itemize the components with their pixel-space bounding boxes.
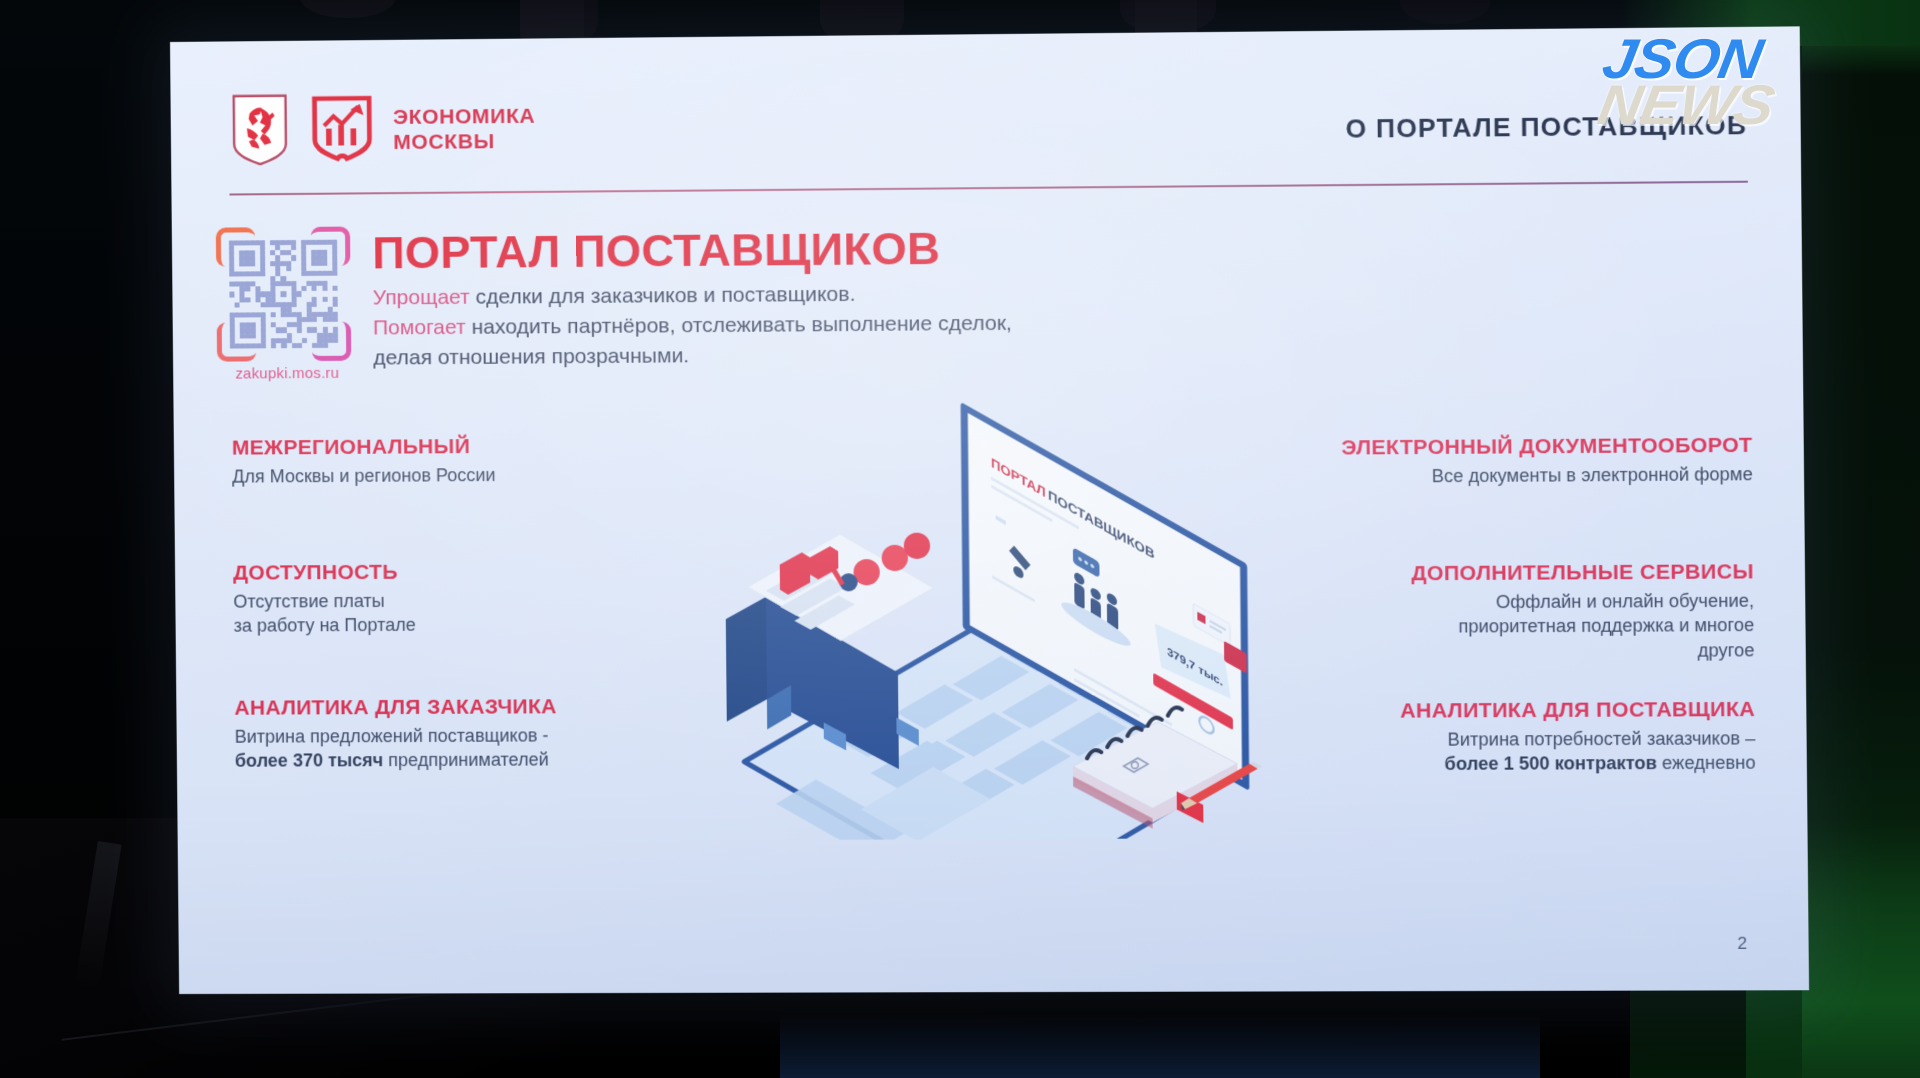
moscow-coat-of-arms-icon [229, 93, 292, 172]
feature-title: ДОПОЛНИТЕЛЬНЫЕ СЕРВИСЫ [1274, 560, 1754, 587]
hero-block: ПОРТАЛ ПОСТАВЩИКОВ Упрощает сделки для з… [372, 224, 1160, 373]
feature-title: АНАЛИТИКА ДЛЯ ПОСТАВЩИКА [1275, 698, 1755, 725]
feature-title: АНАЛИТИКА ДЛЯ ЗАКАЗЧИКА [234, 695, 666, 721]
qr-modules [229, 240, 338, 349]
photo-scene: ЭКОНОМИКА МОСКВЫ О ПОРТАЛЕ ПОСТАВЩИКОВ z… [0, 0, 1920, 1078]
economy-chart-shield-icon [311, 93, 374, 171]
feature-body-tail: ежедневно [1657, 753, 1756, 774]
feature-title: МЕЖРЕГИОНАЛЬНЫЙ [232, 434, 664, 461]
feature-elektronnyy-dokumentooborot: ЭЛЕКТРОННЫЙ ДОКУМЕНТООБОРОТ Все документ… [1273, 434, 1753, 490]
feature-body-line: Витрина потребностей заказчиков – [1448, 728, 1756, 750]
page-number: 2 [1737, 934, 1747, 954]
feature-body-highlight: более 1 500 контрактов [1444, 753, 1657, 774]
page-title: ПОРТАЛ ПОСТАВЩИКОВ [372, 224, 1159, 275]
hero-rest-1: сделки для заказчиков и поставщиков. [470, 283, 856, 309]
feature-body-line: Отсутствие платы [233, 591, 384, 612]
feature-body-line: другое [1698, 640, 1755, 661]
feature-dostupnost: ДОСТУПНОСТЬ Отсутствие платы за работу н… [233, 559, 665, 638]
qr-url-label: zakupki.mos.ru [217, 365, 357, 383]
feature-body: Оффлайн и онлайн обучение, приоритетная … [1274, 589, 1754, 665]
feature-body: Отсутствие платы за работу на Портале [233, 587, 665, 638]
feature-body: Все документы в электронной форме [1273, 462, 1753, 490]
feature-dopolnitelnye-servisy: ДОПОЛНИТЕЛЬНЫЕ СЕРВИСЫ Оффлайн и онлайн … [1274, 560, 1755, 665]
feature-body-line: за работу на Портале [234, 615, 416, 636]
isometric-laptop-illustration: ПОРТАЛ ПОСТАВЩИКОВ [715, 364, 1287, 840]
hero-accent-2: Помогает [373, 316, 466, 340]
hero-rest-2: находить партнёров, отслеживать выполнен… [466, 312, 1012, 339]
feature-body: Для Москвы и регионов России [232, 462, 664, 489]
feature-body-tail: предпринимателей [383, 750, 549, 771]
feature-body: Витрина предложений поставщиков - более … [235, 723, 667, 774]
brand-name: ЭКОНОМИКА МОСКВЫ [393, 105, 536, 156]
feature-body-highlight: более 370 тысяч [235, 751, 384, 772]
stage-blue-glow [780, 1014, 1540, 1078]
feature-analitika-dlya-zakazchika: АНАЛИТИКА ДЛЯ ЗАКАЗЧИКА Витрина предложе… [234, 695, 666, 774]
feature-title: ДОСТУПНОСТЬ [233, 559, 665, 586]
feature-body-line: Витрина предложений поставщиков - [235, 726, 549, 747]
projected-slide: ЭКОНОМИКА МОСКВЫ О ПОРТАЛЕ ПОСТАВЩИКОВ z… [170, 26, 1809, 994]
feature-body-line: Оффлайн и онлайн обучение, [1496, 591, 1754, 613]
feature-analitika-dlya-postavshchika: АНАЛИТИКА ДЛЯ ПОСТАВЩИКА Витрина потребн… [1275, 698, 1755, 778]
brand-lockup: ЭКОНОМИКА МОСКВЫ [229, 91, 536, 172]
header-divider [229, 181, 1747, 196]
slide-section-title: О ПОРТАЛЕ ПОСТАВЩИКОВ [1345, 110, 1747, 145]
feature-body-line: приоритетная поддержка и многое [1458, 615, 1754, 637]
feature-title: ЭЛЕКТРОННЫЙ ДОКУМЕНТООБОРОТ [1273, 434, 1753, 461]
hero-accent-1: Упрощает [373, 286, 470, 310]
qr-block: zakupki.mos.ru [216, 226, 358, 382]
feature-body: Витрина потребностей заказчиков – более … [1276, 726, 1756, 777]
qr-code-icon[interactable] [216, 227, 351, 362]
feature-mezhregionalnyy: МЕЖРЕГИОНАЛЬНЫЙ Для Москвы и регионов Ро… [232, 434, 664, 489]
